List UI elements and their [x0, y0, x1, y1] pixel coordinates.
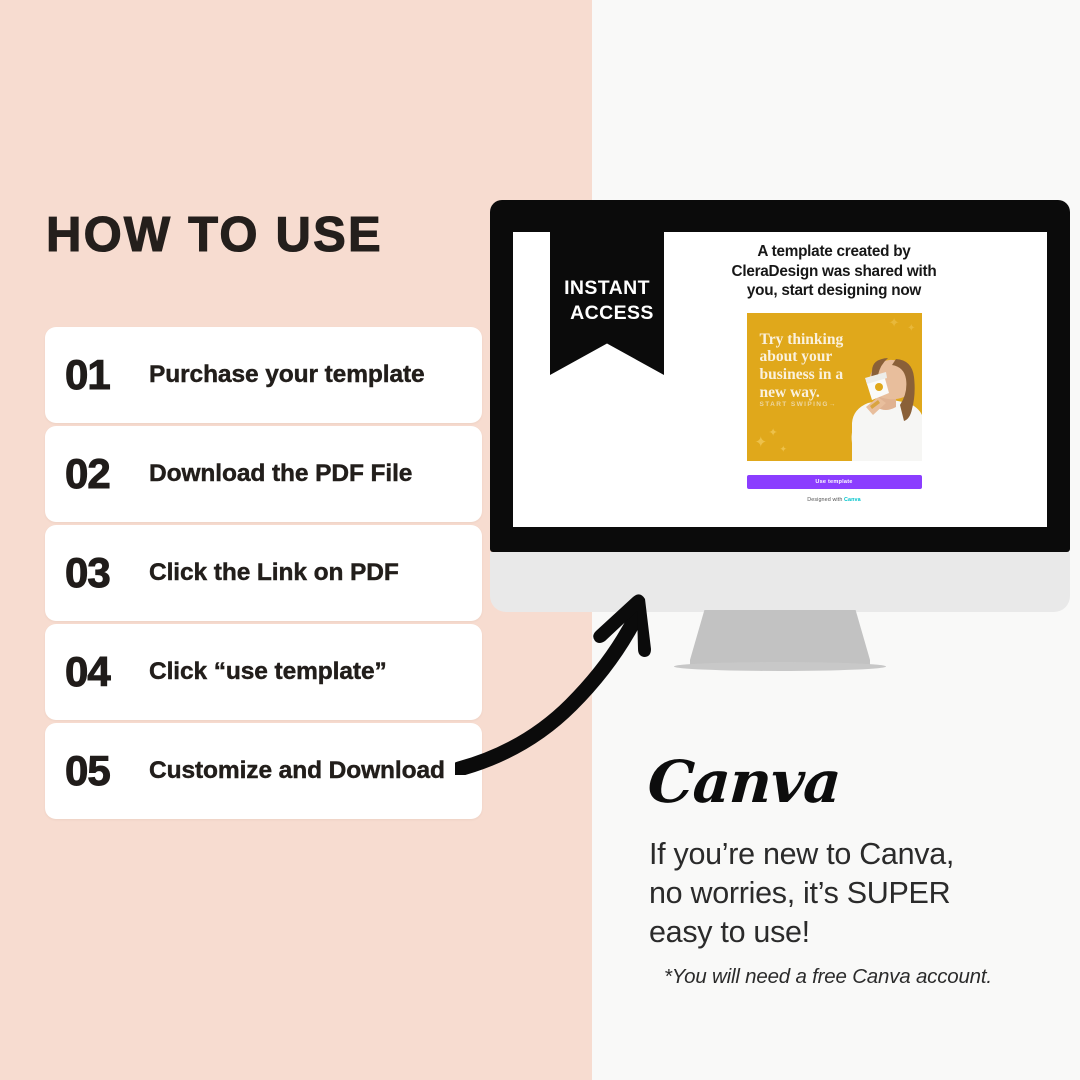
canva-account-note: *You will need a free Canva account.	[664, 965, 1074, 989]
canva-description: If you’re new to Canva, no worries, it’s…	[649, 835, 1069, 952]
step-label: Customize and Download	[149, 757, 445, 785]
star-icon: ✦	[780, 444, 788, 455]
step-number: 02	[65, 450, 149, 498]
list-item[interactable]: 05 Customize and Download	[45, 723, 482, 819]
step-number: 05	[65, 747, 149, 795]
step-label: Purchase your template	[149, 361, 425, 389]
step-label: Click the Link on PDF	[149, 559, 399, 587]
star-icon: ✦	[907, 323, 915, 334]
canva-description-line-1: If you’re new to Canva,	[649, 835, 1069, 874]
page-title: HOW TO USE	[46, 211, 383, 260]
canva-share-panel: A template created by CleraDesign was sh…	[689, 242, 979, 503]
share-heading-line-3: you, start designing now	[689, 281, 979, 301]
poster-canvas: HOW TO USE 01 Purchase your template 02 …	[0, 0, 1080, 1080]
template-thumbnail[interactable]: Try thinking about your business in a ne…	[747, 313, 922, 461]
star-icon: ✦	[769, 426, 778, 439]
step-label: Download the PDF File	[149, 460, 412, 488]
list-item[interactable]: 04 Click “use template”	[45, 624, 482, 720]
steps-list: 01 Purchase your template 02 Download th…	[45, 327, 482, 822]
monitor-stand-base	[674, 662, 886, 671]
canva-description-line-2: no worries, it’s SUPER	[649, 874, 1069, 913]
canva-description-line-3: easy to use!	[649, 913, 1069, 952]
monitor-screen: INSTANT ACCESS A template created by Cle…	[513, 232, 1047, 527]
designed-with-prefix: Designed with	[807, 497, 842, 503]
step-number: 03	[65, 549, 149, 597]
canva-brand-mark: Canva	[844, 497, 861, 503]
desktop-monitor-illustration: INSTANT ACCESS A template created by Cle…	[490, 200, 1070, 552]
canva-logo: Canva	[646, 748, 843, 816]
use-template-button-label: Use template	[815, 479, 852, 485]
share-heading-line-1: A template created by	[689, 242, 979, 262]
instant-access-ribbon: INSTANT ACCESS	[550, 232, 664, 375]
step-label: Click “use template”	[149, 658, 387, 686]
step-number: 04	[65, 648, 149, 696]
share-heading-line-2: CleraDesign was shared with	[689, 262, 979, 282]
share-heading: A template created by CleraDesign was sh…	[689, 242, 979, 301]
ribbon-line-2: ACCESS	[570, 301, 654, 326]
star-icon: ✦	[889, 315, 900, 331]
list-item[interactable]: 03 Click the Link on PDF	[45, 525, 482, 621]
list-item[interactable]: 02 Download the PDF File	[45, 426, 482, 522]
step-number: 01	[65, 351, 149, 399]
star-icon: ✦	[755, 433, 768, 451]
list-item[interactable]: 01 Purchase your template	[45, 327, 482, 423]
monitor-stand-neck	[690, 610, 870, 668]
person-photo	[826, 345, 922, 461]
ribbon-line-1: INSTANT	[564, 276, 650, 301]
use-template-button[interactable]: Use template	[747, 475, 922, 489]
curved-arrow-icon	[455, 545, 705, 775]
designed-with-canva-credit: Designed with Canva	[689, 497, 979, 503]
